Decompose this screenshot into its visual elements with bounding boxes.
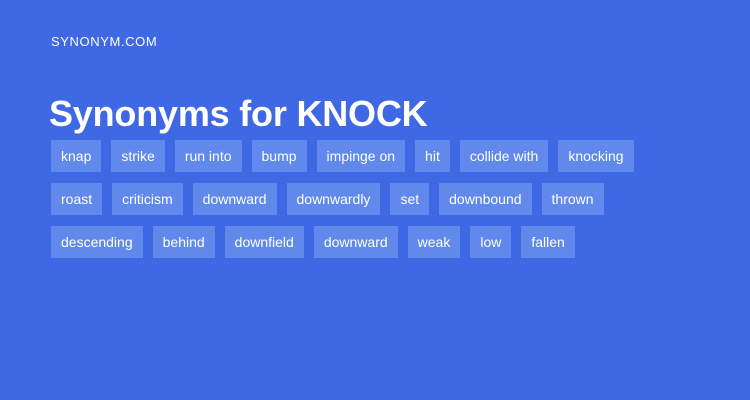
synonym-tag[interactable]: downfield	[225, 226, 304, 258]
synonym-tag[interactable]: low	[470, 226, 511, 258]
synonym-tag[interactable]: strike	[111, 140, 164, 172]
synonym-row: roast criticism downward downwardly set …	[51, 183, 711, 215]
synonym-tag[interactable]: hit	[415, 140, 450, 172]
synonym-tag[interactable]: run into	[175, 140, 242, 172]
synonym-tag[interactable]: impinge on	[317, 140, 406, 172]
synonym-tag[interactable]: fallen	[521, 226, 574, 258]
synonym-tag[interactable]: weak	[408, 226, 461, 258]
synonym-tag[interactable]: downbound	[439, 183, 531, 215]
page-title: Synonyms for KNOCK	[49, 92, 427, 136]
site-brand: SYNONYM.COM	[51, 34, 157, 50]
synonym-tag[interactable]: collide with	[460, 140, 548, 172]
synonym-tag[interactable]: behind	[153, 226, 215, 258]
synonym-row: descending behind downfield downward wea…	[51, 226, 711, 258]
synonym-tag[interactable]: knocking	[558, 140, 633, 172]
synonym-tag-cloud: knap strike run into bump impinge on hit…	[51, 140, 711, 258]
synonym-tag[interactable]: bump	[252, 140, 307, 172]
synonym-tag[interactable]: roast	[51, 183, 102, 215]
synonym-tag[interactable]: downward	[193, 183, 277, 215]
synonym-tag[interactable]: thrown	[542, 183, 604, 215]
synonym-tag[interactable]: downwardly	[287, 183, 381, 215]
synonyms-page: SYNONYM.COM Synonyms for KNOCK knap stri…	[0, 0, 750, 400]
synonym-tag[interactable]: criticism	[112, 183, 183, 215]
synonym-tag[interactable]: set	[390, 183, 429, 215]
synonym-tag[interactable]: descending	[51, 226, 143, 258]
synonym-row: knap strike run into bump impinge on hit…	[51, 140, 711, 172]
synonym-tag[interactable]: downward	[314, 226, 398, 258]
synonym-tag[interactable]: knap	[51, 140, 101, 172]
